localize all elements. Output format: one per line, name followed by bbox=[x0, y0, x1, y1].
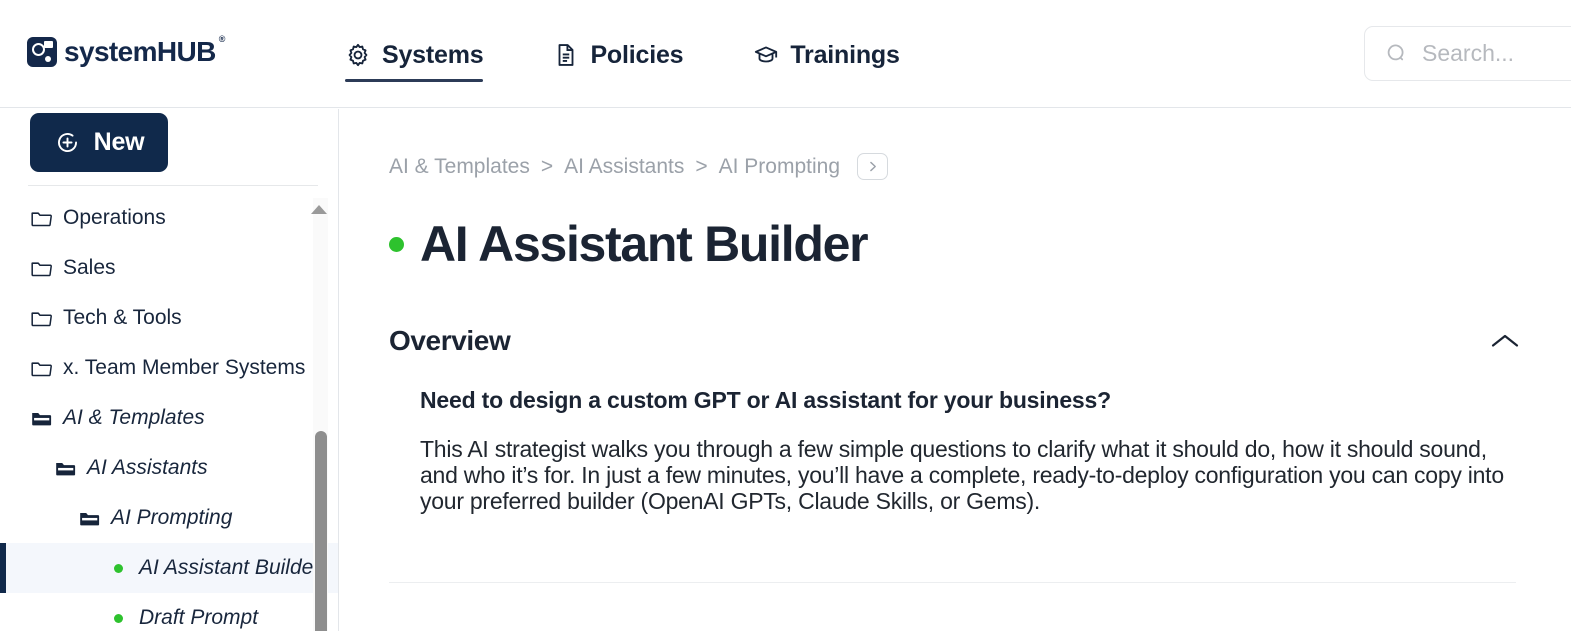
folder-outline-icon bbox=[30, 209, 53, 228]
breadcrumb: AI & Templates > AI Assistants > AI Prom… bbox=[389, 153, 888, 180]
document-icon bbox=[553, 42, 579, 68]
sidebar-item-draft-prompt[interactable]: Draft Prompt bbox=[0, 593, 339, 631]
sidebar-item-label: Tech & Tools bbox=[63, 306, 182, 330]
sidebar-item-operations[interactable]: Operations bbox=[0, 193, 339, 243]
chevron-up-icon[interactable] bbox=[1490, 332, 1520, 350]
tab-trainings[interactable]: Trainings bbox=[753, 30, 921, 80]
folder-open-icon bbox=[30, 409, 53, 428]
sidebar-item-label: Operations bbox=[63, 206, 166, 230]
overview-lead-text: Need to design a custom GPT or AI assist… bbox=[420, 387, 1520, 414]
logo-wordmark: systemHUB ® bbox=[64, 36, 216, 68]
search-input[interactable]: Search... bbox=[1422, 40, 1514, 67]
main-content: AI & Templates > AI Assistants > AI Prom… bbox=[340, 109, 1571, 631]
sidebar-item-label: AI Assistant Builder bbox=[139, 556, 320, 580]
tab-systems[interactable]: Systems bbox=[345, 30, 505, 80]
logo-text: systemHUB bbox=[64, 36, 216, 67]
tab-systems-label: Systems bbox=[382, 41, 483, 70]
sidebar-nav: Operations Sales Tech & Tools x. Team Me… bbox=[0, 193, 339, 631]
overview-paragraph: This AI strategist walks you through a f… bbox=[420, 436, 1520, 515]
sidebar-divider bbox=[28, 185, 318, 186]
folder-outline-icon bbox=[30, 309, 53, 328]
green-dot-icon bbox=[114, 614, 123, 623]
sidebar-item-ai-assistant-builder[interactable]: AI Assistant Builder bbox=[0, 543, 339, 593]
sidebar-item-label: AI Assistants bbox=[87, 456, 208, 480]
sidebar-item-label: Sales bbox=[63, 256, 116, 280]
sidebar-scrollbar-thumb[interactable] bbox=[315, 431, 327, 631]
scroll-up-arrow-icon[interactable] bbox=[311, 205, 327, 214]
breadcrumb-separator: > bbox=[541, 155, 553, 179]
content-divider bbox=[389, 582, 1516, 583]
folder-open-icon bbox=[54, 459, 77, 478]
breadcrumb-item-3[interactable]: AI Prompting bbox=[719, 155, 840, 179]
sidebar-item-label: AI & Templates bbox=[63, 406, 205, 430]
sidebar-item-tech-and-tools[interactable]: Tech & Tools bbox=[0, 293, 339, 343]
overview-section-header[interactable]: Overview bbox=[389, 325, 1520, 357]
sidebar-item-label: x. Team Member Systems bbox=[63, 356, 305, 380]
breadcrumb-next-button[interactable] bbox=[857, 153, 888, 180]
breadcrumb-item-2[interactable]: AI Assistants bbox=[564, 155, 684, 179]
gear-icon bbox=[345, 42, 371, 68]
sidebar-item-label: AI Prompting bbox=[111, 506, 232, 530]
chevron-right-icon bbox=[866, 160, 879, 173]
overview-body: Need to design a custom GPT or AI assist… bbox=[420, 387, 1520, 515]
breadcrumb-item-1[interactable]: AI & Templates bbox=[389, 155, 530, 179]
folder-outline-icon bbox=[30, 259, 53, 278]
sidebar-item-ai-and-templates[interactable]: AI & Templates bbox=[0, 393, 339, 443]
page-title: AI Assistant Builder bbox=[420, 215, 867, 273]
registered-mark: ® bbox=[219, 34, 225, 44]
brand-logo[interactable]: systemHUB ® bbox=[27, 36, 216, 68]
sidebar-item-label: Draft Prompt bbox=[139, 606, 258, 630]
folder-open-icon bbox=[78, 509, 101, 528]
search-icon bbox=[1385, 42, 1409, 66]
sidebar-item-ai-prompting[interactable]: AI Prompting bbox=[0, 493, 339, 543]
sidebar-item-ai-assistants[interactable]: AI Assistants bbox=[0, 443, 339, 493]
sidebar-item-sales[interactable]: Sales bbox=[0, 243, 339, 293]
folder-outline-icon bbox=[30, 359, 53, 378]
search-bar[interactable]: Search... bbox=[1364, 26, 1571, 81]
tab-trainings-label: Trainings bbox=[790, 41, 899, 70]
graduation-cap-icon bbox=[753, 42, 779, 68]
top-header: systemHUB ® Systems Policies bbox=[0, 0, 1571, 108]
sidebar: New Operations Sales Tech & Tools bbox=[0, 109, 339, 631]
new-button-label: New bbox=[94, 128, 145, 157]
new-button[interactable]: New bbox=[30, 113, 168, 172]
tab-policies[interactable]: Policies bbox=[553, 30, 705, 80]
sidebar-item-team-member-systems[interactable]: x. Team Member Systems bbox=[0, 343, 339, 393]
breadcrumb-separator: > bbox=[695, 155, 707, 179]
circle-plus-icon bbox=[54, 129, 81, 156]
primary-nav-tabs: Systems Policies Trainings bbox=[345, 30, 970, 80]
green-status-dot bbox=[389, 237, 404, 252]
page-title-row: AI Assistant Builder bbox=[389, 215, 867, 273]
app-root: systemHUB ® Systems Policies bbox=[0, 0, 1571, 631]
tab-policies-label: Policies bbox=[590, 41, 683, 70]
green-dot-icon bbox=[114, 564, 123, 573]
section-title: Overview bbox=[389, 325, 510, 357]
systemhub-logo-icon bbox=[27, 37, 57, 67]
